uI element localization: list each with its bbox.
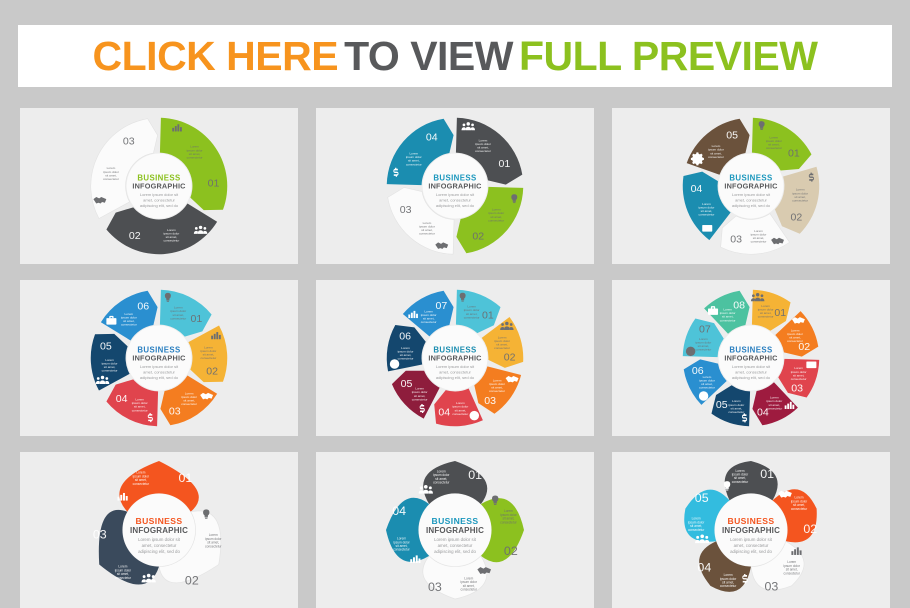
svg-text:consectetur: consectetur: [201, 356, 217, 360]
svg-text:consectetur: consectetur: [115, 576, 131, 580]
svg-text:consectetur: consectetur: [475, 149, 491, 153]
mail-icon: [806, 362, 816, 368]
segment-number-04: 04: [392, 504, 406, 518]
svg-text:consectetur: consectetur: [699, 386, 715, 390]
hub-title-business: BUSINESS: [135, 516, 182, 526]
segment-number-01: 01: [774, 307, 786, 319]
thumbnail-canvas: 01Loremipsum dolorsit amet,consectetur02…: [612, 452, 890, 608]
svg-text:consectetur: consectetur: [792, 198, 808, 202]
infographic-circle-5[interactable]: 01Loremipsum dolorsit amet,consectetur02…: [617, 111, 885, 261]
svg-text:consectetur: consectetur: [500, 520, 516, 524]
svg-text:consectetur: consectetur: [421, 320, 437, 324]
svg-text:Lorem ipsum dolor sit: Lorem ipsum dolor sit: [436, 192, 475, 197]
banner-part-full-preview: FULL PREVIEW: [516, 33, 820, 79]
segment-number-05: 05: [401, 378, 413, 390]
segment-number-08: 08: [733, 300, 745, 312]
svg-text:amet, consectetur: amet, consectetur: [735, 370, 767, 375]
svg-text:consectetur: consectetur: [695, 348, 711, 352]
svg-text:amet, consectetur: amet, consectetur: [734, 543, 769, 548]
thumbnail-card-circle-5[interactable]: 01Loremipsum dolorsit amet,consectetur02…: [612, 108, 890, 264]
svg-text:consectetur: consectetur: [489, 389, 505, 393]
svg-text:amet, consectetur: amet, consectetur: [142, 543, 177, 548]
svg-text:Lorem ipsum dolor sit: Lorem ipsum dolor sit: [436, 364, 475, 369]
svg-text:consectetur: consectetur: [419, 232, 435, 236]
hub-title-business: BUSINESS: [727, 516, 774, 526]
svg-text:consectetur: consectetur: [121, 323, 137, 327]
svg-text:amet, consectetur: amet, consectetur: [439, 198, 471, 203]
svg-text:consectetur: consectetur: [433, 481, 449, 485]
svg-text:consectetur: consectetur: [452, 412, 468, 416]
segment-number-01: 01: [178, 471, 192, 485]
svg-text:Lorem ipsum dolor sit: Lorem ipsum dolor sit: [138, 537, 181, 542]
segment-number-07: 07: [436, 300, 448, 312]
infographic-circle-4[interactable]: 01Loremipsum dolorsit amet,consectetur02…: [321, 111, 589, 261]
segment-number-01: 01: [788, 147, 800, 159]
svg-text:consectetur: consectetur: [720, 584, 736, 588]
thumbnail-card-circle-7[interactable]: 01Loremipsum dolorsit amet,consectetur02…: [316, 280, 594, 436]
hub-title-infographic: INFOGRAPHIC: [132, 182, 186, 191]
svg-text:adipiscing elit, sed do: adipiscing elit, sed do: [140, 203, 179, 208]
infographic-circle-7[interactable]: 01Loremipsum dolorsit amet,consectetur02…: [321, 283, 589, 433]
segment-number-03: 03: [400, 204, 412, 216]
segment-number-04: 04: [116, 393, 128, 405]
clock-icon: [686, 347, 695, 356]
thumbnail-canvas: 01Loremipsum dolorsit amet,consectetur02…: [316, 452, 594, 608]
infographic-circle-6[interactable]: 01Loremipsum dolorsit amet,consectetur02…: [25, 283, 293, 433]
mail-icon: [702, 225, 712, 231]
segment-number-03: 03: [791, 382, 803, 394]
svg-text:consectetur: consectetur: [708, 155, 724, 159]
hub-title-infographic: INFOGRAPHIC: [724, 182, 778, 191]
thumbnail-card-circle-8[interactable]: 01Loremipsum dolorsit amet,consectetur02…: [612, 280, 890, 436]
svg-text:consectetur: consectetur: [133, 482, 149, 486]
segment-number-01: 01: [482, 309, 494, 321]
svg-text:adipiscing elit, sed do: adipiscing elit, sed do: [732, 203, 771, 208]
clock-icon: [470, 411, 479, 420]
svg-text:consectetur: consectetur: [464, 315, 480, 319]
svg-text:consectetur: consectetur: [758, 315, 774, 319]
thumbnail-canvas: 01Loremipsum dolorsit amet,consectetur02…: [20, 108, 298, 264]
target-icon: [699, 391, 708, 400]
thumbnail-canvas: 01Loremipsum dolorsit amet,consectetur02…: [612, 108, 890, 264]
gear-icon: [691, 152, 704, 165]
svg-text:amet, consectetur: amet, consectetur: [438, 543, 473, 548]
segment-number-01: 01: [468, 468, 482, 482]
infographic-circle-8[interactable]: 01Loremipsum dolorsit amet,consectetur02…: [617, 283, 885, 433]
thumbnail-canvas: 01Loremipsum dolorsit amet,consectetur02…: [20, 280, 298, 436]
segment-number-01: 01: [208, 178, 220, 190]
svg-text:adipiscing elit, sed do: adipiscing elit, sed do: [436, 375, 475, 380]
hub-title-infographic: INFOGRAPHIC: [722, 526, 780, 535]
segment-number-03: 03: [169, 405, 181, 417]
svg-text:consectetur: consectetur: [205, 544, 221, 548]
svg-text:consectetur: consectetur: [787, 339, 803, 343]
svg-text:adipiscing elit, sed do: adipiscing elit, sed do: [138, 549, 180, 554]
hub-title-infographic: INFOGRAPHIC: [132, 354, 186, 363]
svg-text:amet, consectetur: amet, consectetur: [735, 198, 767, 203]
hub-title-infographic: INFOGRAPHIC: [724, 354, 778, 363]
thumbnail-canvas: 01Loremipsum dolorsit amet,consectetur02…: [316, 280, 594, 436]
segment-number-01: 01: [760, 467, 774, 481]
segment-number-03: 03: [428, 580, 442, 594]
thumbnail-canvas: 01Loremipsum dolorsit amet,consectetur02…: [612, 280, 890, 436]
svg-text:consectetur: consectetur: [102, 369, 118, 373]
svg-text:adipiscing elit, sed do: adipiscing elit, sed do: [436, 203, 475, 208]
svg-text:consectetur: consectetur: [181, 402, 197, 406]
svg-text:consectetur: consectetur: [766, 146, 782, 150]
thumbnail-canvas: 01Loremipsum dolorsit amet,consectetur02…: [20, 452, 298, 608]
segment-number-05: 05: [726, 130, 738, 142]
segment-number-02: 02: [504, 352, 516, 364]
svg-text:consectetur: consectetur: [132, 408, 148, 412]
thumbnail-card-petal-5[interactable]: 01Loremipsum dolorsit amet,consectetur02…: [612, 452, 890, 608]
banner-part-click-here: CLICK HERE: [90, 33, 342, 79]
segment-number-02: 02: [129, 230, 141, 242]
svg-text:adipiscing elit, sed do: adipiscing elit, sed do: [434, 549, 476, 554]
hub-title-infographic: INFOGRAPHIC: [130, 526, 188, 535]
infographic-petal-3[interactable]: 01Loremipsum dolorsit amet,consectetur02…: [25, 455, 293, 605]
svg-text:consectetur: consectetur: [412, 397, 428, 401]
svg-text:consectetur: consectetur: [103, 177, 119, 181]
svg-text:consectetur: consectetur: [766, 406, 782, 410]
preview-page: CLICK HERETO VIEWFULL PREVIEW 01Loremips…: [0, 0, 910, 607]
click-here-banner[interactable]: CLICK HERETO VIEWFULL PREVIEW: [18, 25, 892, 87]
svg-text:consectetur: consectetur: [751, 240, 767, 244]
segment-number-04: 04: [697, 561, 711, 575]
thumbnail-card-petal-4[interactable]: 01Loremipsum dolorsit amet,consectetur02…: [316, 452, 594, 608]
banner-text: CLICK HERETO VIEWFULL PREVIEW: [90, 33, 821, 80]
svg-text:amet, consectetur: amet, consectetur: [439, 370, 471, 375]
svg-text:amet, consectetur: amet, consectetur: [143, 370, 175, 375]
svg-text:consectetur: consectetur: [784, 571, 800, 575]
segment-number-02: 02: [504, 544, 518, 558]
svg-text:consectetur: consectetur: [393, 548, 409, 552]
hub-title-business: BUSINESS: [431, 516, 478, 526]
svg-text:consectetur: consectetur: [791, 507, 807, 511]
hub-title-infographic: INFOGRAPHIC: [428, 182, 482, 191]
svg-text:Lorem ipsum dolor sit: Lorem ipsum dolor sit: [140, 364, 179, 369]
segment-number-03: 03: [123, 136, 135, 148]
target-icon: [390, 359, 399, 368]
segment-number-02: 02: [803, 522, 817, 536]
thumbnail-canvas: 01Loremipsum dolorsit amet,consectetur02…: [316, 108, 594, 264]
svg-text:consectetur: consectetur: [163, 239, 179, 243]
svg-text:consectetur: consectetur: [170, 316, 186, 320]
segment-number-05: 05: [716, 399, 728, 411]
svg-text:Lorem ipsum dolor sit: Lorem ipsum dolor sit: [434, 537, 477, 542]
svg-text:Lorem ipsum dolor sit: Lorem ipsum dolor sit: [732, 192, 771, 197]
svg-text:amet, consectetur: amet, consectetur: [143, 198, 175, 203]
segment-number-04: 04: [426, 132, 438, 144]
svg-text:consectetur: consectetur: [688, 528, 704, 532]
thumbnail-card-circle-3[interactable]: 01Loremipsum dolorsit amet,consectetur02…: [20, 108, 298, 264]
segment-number-03: 03: [93, 528, 107, 542]
thumbnail-card-petal-3[interactable]: 01Loremipsum dolorsit amet,consectetur02…: [20, 452, 298, 608]
banner-part-to-view: TO VIEW: [341, 33, 516, 79]
svg-text:adipiscing elit, sed do: adipiscing elit, sed do: [140, 375, 179, 380]
svg-text:consectetur: consectetur: [720, 318, 736, 322]
segment-number-05: 05: [695, 491, 709, 505]
svg-text:consectetur: consectetur: [187, 155, 203, 159]
segment-number-01: 01: [499, 158, 511, 170]
svg-text:adipiscing elit, sed do: adipiscing elit, sed do: [730, 549, 772, 554]
hub-title-infographic: INFOGRAPHIC: [426, 526, 484, 535]
thumbnail-grid: 01Loremipsum dolorsit amet,consectetur02…: [20, 108, 890, 608]
svg-text:consectetur: consectetur: [488, 218, 504, 222]
svg-text:consectetur: consectetur: [398, 357, 414, 361]
hub-title-infographic: INFOGRAPHIC: [428, 354, 482, 363]
segment-number-04: 04: [438, 407, 450, 419]
segment-number-07: 07: [699, 324, 711, 336]
svg-text:adipiscing elit, sed do: adipiscing elit, sed do: [732, 375, 771, 380]
segment-number-02: 02: [206, 365, 218, 377]
svg-text:consectetur: consectetur: [728, 410, 744, 414]
segment-number-06: 06: [399, 331, 411, 343]
svg-text:Lorem ipsum dolor sit: Lorem ipsum dolor sit: [140, 192, 179, 197]
infographic-circle-3[interactable]: 01Loremipsum dolorsit amet,consectetur02…: [25, 111, 293, 261]
segment-number-03: 03: [765, 580, 779, 594]
svg-text:consectetur: consectetur: [406, 162, 422, 166]
segment-number-01: 01: [191, 313, 203, 325]
segment-number-02: 02: [790, 211, 802, 223]
infographic-petal-5[interactable]: 01Loremipsum dolorsit amet,consectetur02…: [617, 455, 885, 605]
segment-number-02: 02: [185, 573, 199, 587]
svg-text:Lorem ipsum dolor sit: Lorem ipsum dolor sit: [732, 364, 771, 369]
segment-number-04: 04: [691, 183, 703, 195]
segment-number-02: 02: [472, 230, 484, 242]
segment-number-03: 03: [730, 234, 742, 246]
svg-text:consectetur: consectetur: [732, 480, 748, 484]
svg-text:consectetur: consectetur: [494, 346, 510, 350]
svg-text:Lorem ipsum dolor sit: Lorem ipsum dolor sit: [730, 537, 773, 542]
segment-number-03: 03: [484, 395, 496, 407]
infographic-petal-4[interactable]: 01Loremipsum dolorsit amet,consectetur02…: [321, 455, 589, 605]
svg-text:consectetur: consectetur: [699, 213, 715, 217]
segment-number-05: 05: [100, 341, 112, 353]
svg-text:consectetur: consectetur: [791, 377, 807, 381]
segment-number-06: 06: [137, 301, 149, 313]
svg-text:consectetur: consectetur: [461, 587, 477, 591]
thumbnail-card-circle-6[interactable]: 01Loremipsum dolorsit amet,consectetur02…: [20, 280, 298, 436]
thumbnail-card-circle-4[interactable]: 01Loremipsum dolorsit amet,consectetur02…: [316, 108, 594, 264]
